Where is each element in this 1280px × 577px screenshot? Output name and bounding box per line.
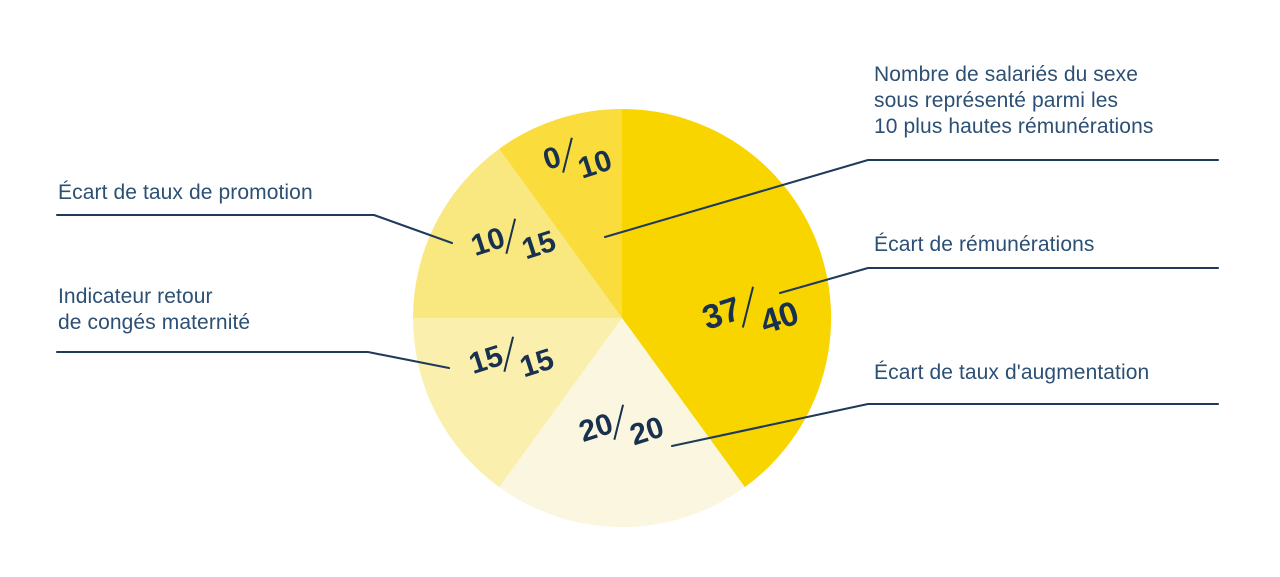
callout-label-promotion: Écart de taux de promotion: [58, 180, 418, 206]
leader-line-promotion: [57, 215, 452, 243]
fraction-bar-icon: [742, 287, 754, 328]
leader-line-maternite: [57, 352, 449, 368]
callout-label-augmentation: Écart de taux d'augmentation: [874, 360, 1224, 386]
leader-line-remunerations: [780, 268, 1218, 293]
fraction-bar-icon: [562, 138, 573, 173]
fraction-bar-icon: [506, 218, 517, 253]
callout-label-maternite: Indicateur retour de congés maternité: [58, 284, 418, 336]
fraction-bar-icon: [614, 404, 625, 439]
infographic-canvas: Nombre de salariés du sexe sous représen…: [0, 0, 1280, 577]
callout-label-remunerations: Écart de rémunérations: [874, 232, 1224, 258]
fraction-bar-icon: [504, 336, 515, 371]
callout-label-hautes-remunerations: Nombre de salariés du sexe sous représen…: [874, 62, 1224, 140]
